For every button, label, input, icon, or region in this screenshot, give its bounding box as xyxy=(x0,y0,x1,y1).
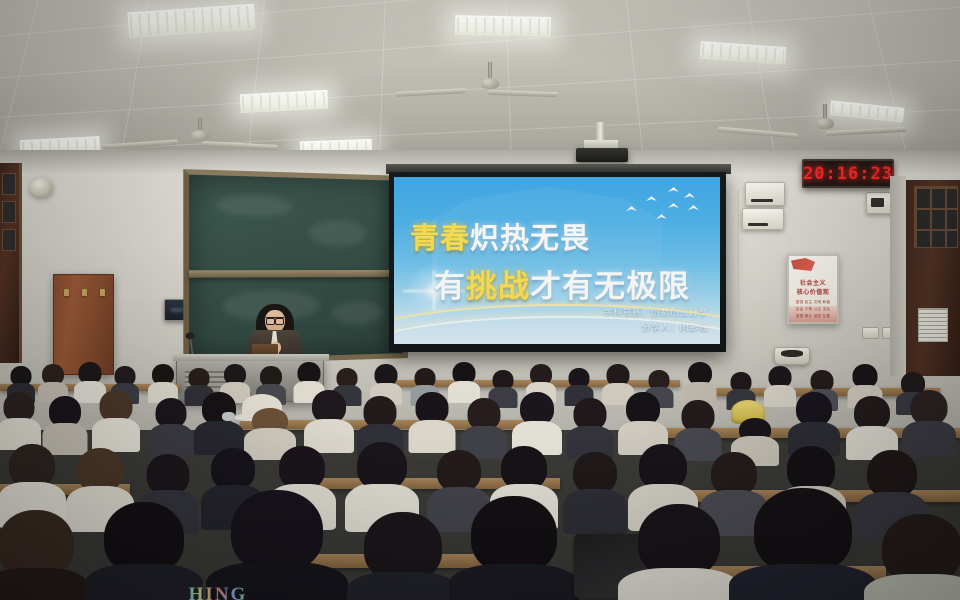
slide-title-line-1: 青春炽热无畏 xyxy=(410,215,590,257)
slide-title-rest-1: 炽热无畏 xyxy=(470,221,590,255)
audience-person xyxy=(248,394,292,452)
audience-person xyxy=(874,514,960,600)
audience-person xyxy=(766,366,794,402)
presenter-glasses xyxy=(266,317,284,322)
audience-person xyxy=(570,398,610,452)
audience-person xyxy=(516,392,558,448)
poster-title-line-2: 核心价值观 xyxy=(789,287,837,296)
audience-person xyxy=(906,390,952,450)
face-mask xyxy=(222,412,235,421)
wall-dome-light xyxy=(30,178,53,197)
audience-person xyxy=(850,396,894,454)
slide-birds-graphic xyxy=(616,187,704,227)
ceiling-fan xyxy=(760,104,890,142)
audience-person xyxy=(464,398,504,452)
audience-person xyxy=(356,512,450,600)
ceiling-projector xyxy=(576,148,628,162)
audience-person xyxy=(568,452,622,526)
audience-person xyxy=(152,398,190,450)
audience-person xyxy=(630,504,728,600)
door-left[interactable] xyxy=(0,163,22,363)
led-wall-clock: 20:16:23 xyxy=(802,159,894,188)
audience-person xyxy=(372,364,400,400)
audience-person xyxy=(150,364,176,398)
audience-person xyxy=(40,364,66,398)
projector-plate xyxy=(584,140,618,148)
poster-values-row-1: 富强 民主 文明 和谐 xyxy=(793,299,833,305)
door-glass-panes xyxy=(914,186,958,248)
audience-person xyxy=(412,392,452,446)
audience-person xyxy=(4,444,60,520)
audience-person xyxy=(46,396,84,448)
ceiling-fan xyxy=(430,62,550,98)
lecture-hall-photo: 青春炽热无畏 有挑战才有无极限 学科竞赛、创新创业分享 分享人：闵彭瑶 20:1… xyxy=(0,0,960,600)
wall-equipment-box-lower xyxy=(742,208,784,230)
poster-title-line-1: 社会主义 xyxy=(789,278,837,287)
lectern-top-surface xyxy=(173,354,329,361)
audience-person xyxy=(96,502,192,600)
ceiling-fan xyxy=(140,118,260,154)
audience-person xyxy=(686,362,714,398)
audience-person xyxy=(308,390,350,446)
slide-wave-graphic xyxy=(394,298,720,344)
socialist-core-values-poster: 社会主义 核心价值观 富强 民主 文明 和谐 自由 平等 公正 法治 爱国 敬业… xyxy=(787,254,839,324)
presentation-slide: 青春炽热无畏 有挑战才有无极限 学科竞赛、创新创业分享 分享人：闵彭瑶 xyxy=(394,177,720,344)
audience-person xyxy=(198,392,240,448)
ceiling-light-panel xyxy=(455,15,551,37)
audience-person xyxy=(462,496,566,600)
door-right[interactable] xyxy=(906,180,960,376)
audience-person xyxy=(450,362,478,398)
clock-time-display: 20:16:23 xyxy=(803,164,893,184)
slide-title-highlight-1: 青春 xyxy=(410,221,470,255)
audience-person xyxy=(734,402,776,456)
door-jamb xyxy=(890,176,906,376)
poster-base-graphic xyxy=(789,306,837,322)
audience-person xyxy=(0,510,82,600)
coat-rack-panel xyxy=(53,274,114,375)
wall-equipment-box-upper xyxy=(745,182,785,206)
audience-person xyxy=(792,392,836,450)
audience-person xyxy=(622,392,664,448)
audience-person xyxy=(566,368,592,402)
projection-screen: 青春炽热无畏 有挑战才有无极限 学科竞赛、创新创业分享 分享人：闵彭瑶 xyxy=(389,172,726,352)
audience-seating: HING xyxy=(0,362,960,600)
hoodie-graphic-text: HING xyxy=(189,584,248,600)
audience-person xyxy=(744,488,862,600)
wall-conduit xyxy=(737,190,739,330)
poster-flag-graphic xyxy=(791,258,815,271)
audience-person xyxy=(0,392,38,444)
audience-person xyxy=(96,390,136,444)
door-notice-paper xyxy=(918,308,948,342)
wall-outlet[interactable] xyxy=(862,327,879,339)
